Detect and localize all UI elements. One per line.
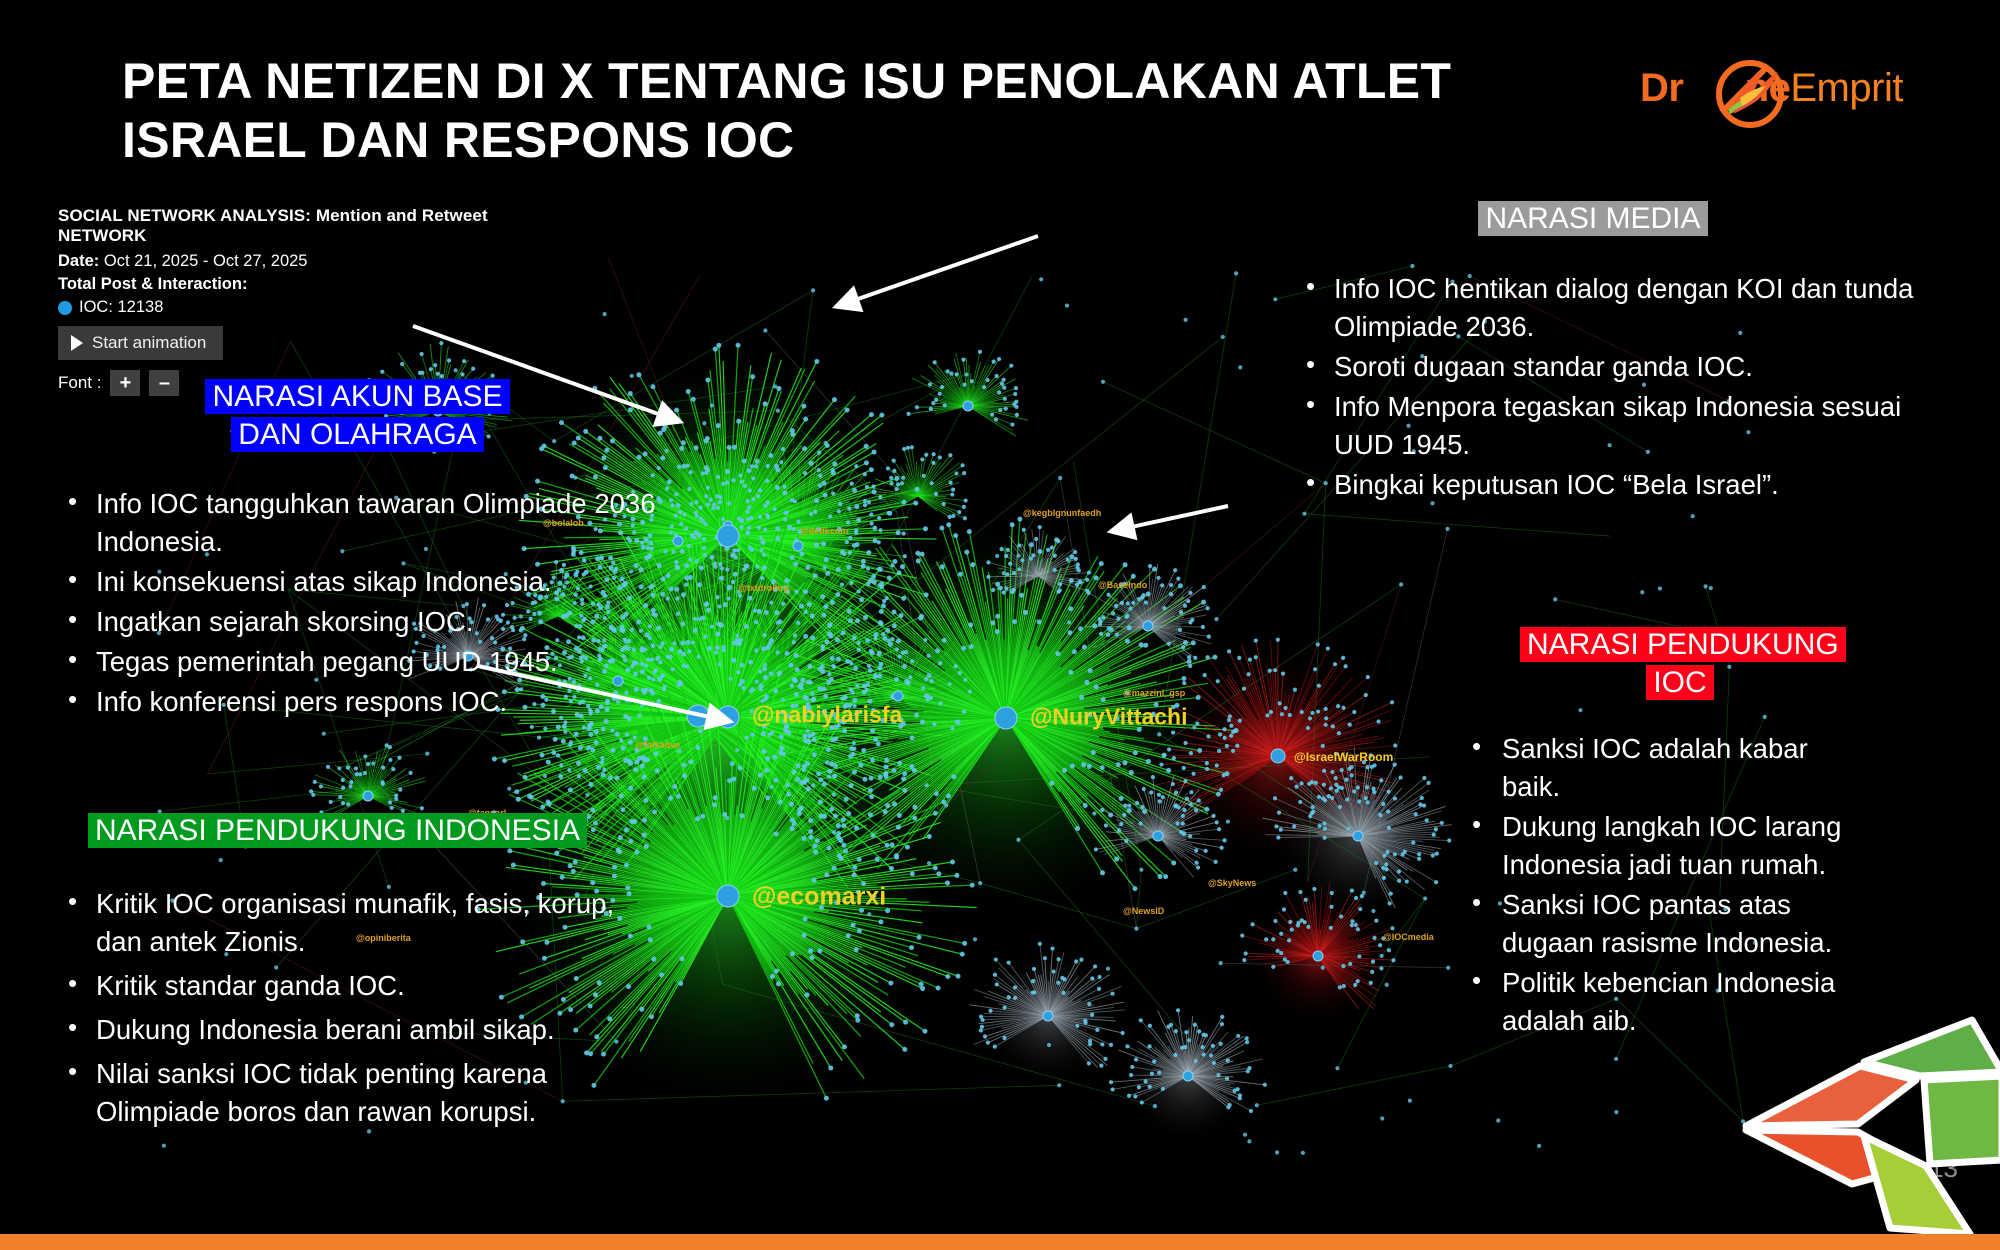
corner-fan-decoration	[1740, 1014, 2000, 1234]
sna-info-panel: SOCIAL NETWORK ANALYSIS: Mention and Ret…	[58, 206, 578, 396]
network-node-label-small: @BaseIndo	[1098, 580, 1148, 590]
list-item: Info Menpora tegaskan sikap Indonesia se…	[1300, 388, 1940, 464]
play-icon	[71, 335, 83, 351]
list-item: Tegas pemerintah pegang UUD 1945.	[62, 643, 662, 681]
title-line-2: ISRAEL DAN RESPONS IOC	[122, 111, 1582, 170]
list-item: Nilai sanksi IOC tidak penting karena Ol…	[62, 1055, 662, 1131]
list-item: Kritik IOC organisasi munafik, fasis, ko…	[62, 885, 662, 961]
network-node-label-small: @txtdrolhrg	[738, 583, 789, 593]
title-line-1: PETA NETIZEN DI X TENTANG ISU PENOLAKAN …	[122, 52, 1582, 111]
network-node-label: @ecomarxi	[752, 882, 886, 910]
network-node-label: @nabiylarisfa	[752, 702, 902, 728]
legend-ioc-label: IOC: 12138	[79, 298, 163, 317]
sna-date-value: Oct 21, 2025 - Oct 27, 2025	[104, 252, 308, 270]
callout-heading-ioc: NARASI PENDUKUNG IOC	[1520, 626, 1840, 703]
font-decrease-button[interactable]: –	[149, 370, 179, 396]
network-node-label-small: @kegblgnunfaedh	[1023, 508, 1101, 518]
list-item: Bingkai keputusan IOC “Bela Israel”.	[1300, 466, 1940, 504]
callout-heading-media: NARASI MEDIA	[1478, 200, 1708, 238]
slide-root: @nabiylarisfa@NuryVittachi@ecomarxi@Isra…	[0, 0, 2000, 1250]
callout-list-ioc: Sanksi IOC adalah kabar baik.Dukung lang…	[1472, 730, 1872, 1042]
network-node-label-small: @NewsID	[1123, 906, 1165, 916]
network-node-label-small: @mazzini_gsp	[1123, 688, 1186, 698]
list-item: Ini konsekuensi atas sikap Indonesia.	[62, 563, 662, 601]
page-title: PETA NETIZEN DI X TENTANG ISU PENOLAKAN …	[122, 52, 1582, 170]
bird-icon	[1722, 64, 1784, 118]
start-animation-button[interactable]: Start animation	[58, 326, 223, 360]
callout-heading-indonesia: NARASI PENDUKUNG INDONESIA	[85, 812, 590, 850]
callout-list-indonesia: Kritik IOC organisasi munafik, fasis, ko…	[62, 885, 662, 1137]
network-node-label: @IsraelWarRoom	[1294, 750, 1393, 764]
list-item: Info IOC tangguhkan tawaran Olimpiade 20…	[62, 485, 662, 561]
drone-emprit-logo: DrOOneEmprit	[1640, 58, 1930, 126]
sna-date-row: Date: Oct 21, 2025 - Oct 27, 2025	[58, 252, 578, 271]
list-item: Info IOC hentikan dialog dengan KOI dan …	[1300, 270, 1940, 346]
logo-text-emprit: Emprit	[1790, 66, 1903, 110]
list-item: Ingatkan sejarah skorsing IOC.	[62, 603, 662, 641]
start-animation-label: Start animation	[92, 333, 206, 353]
legend-dot-icon	[58, 301, 72, 315]
sna-legend-ioc: IOC: 12138	[58, 298, 578, 317]
list-item: Dukung langkah IOC larang Indonesia jadi…	[1472, 808, 1872, 884]
list-item: Sanksi IOC adalah kabar baik.	[1472, 730, 1872, 806]
list-item: Dukung Indonesia berani ambil sikap.	[62, 1011, 662, 1049]
sna-total-label: Total Post & Interaction:	[58, 275, 578, 294]
logo-text-dr: Dr	[1640, 66, 1683, 110]
network-node-label-small: @IOCmedia	[1383, 932, 1435, 942]
list-item: Kritik standar ganda IOC.	[62, 967, 662, 1005]
network-node-label: @NuryVittachi	[1030, 704, 1188, 730]
font-label: Font :	[58, 373, 101, 393]
font-increase-button[interactable]: +	[110, 370, 140, 396]
callout-list-base: Info IOC tangguhkan tawaran Olimpiade 20…	[62, 485, 662, 723]
list-item: Info konferensi pers respons IOC.	[62, 683, 662, 721]
sna-heading: SOCIAL NETWORK ANALYSIS: Mention and Ret…	[58, 206, 578, 246]
network-node-label-small: @SkyNews	[1208, 878, 1256, 888]
list-item: Sanksi IOC pantas atas dugaan rasisme In…	[1472, 886, 1872, 962]
callout-heading-base: NARASI AKUN BASE DAN OLAHRAGA	[205, 378, 510, 455]
bottom-accent-bar	[0, 1234, 2000, 1250]
network-node-label-small: @folkative	[635, 740, 680, 750]
network-node-label-small: @detikcom	[800, 526, 848, 536]
sna-date-label: Date:	[58, 252, 99, 270]
callout-list-media: Info IOC hentikan dialog dengan KOI dan …	[1300, 270, 1940, 506]
list-item: Soroti dugaan standar ganda IOC.	[1300, 348, 1940, 386]
